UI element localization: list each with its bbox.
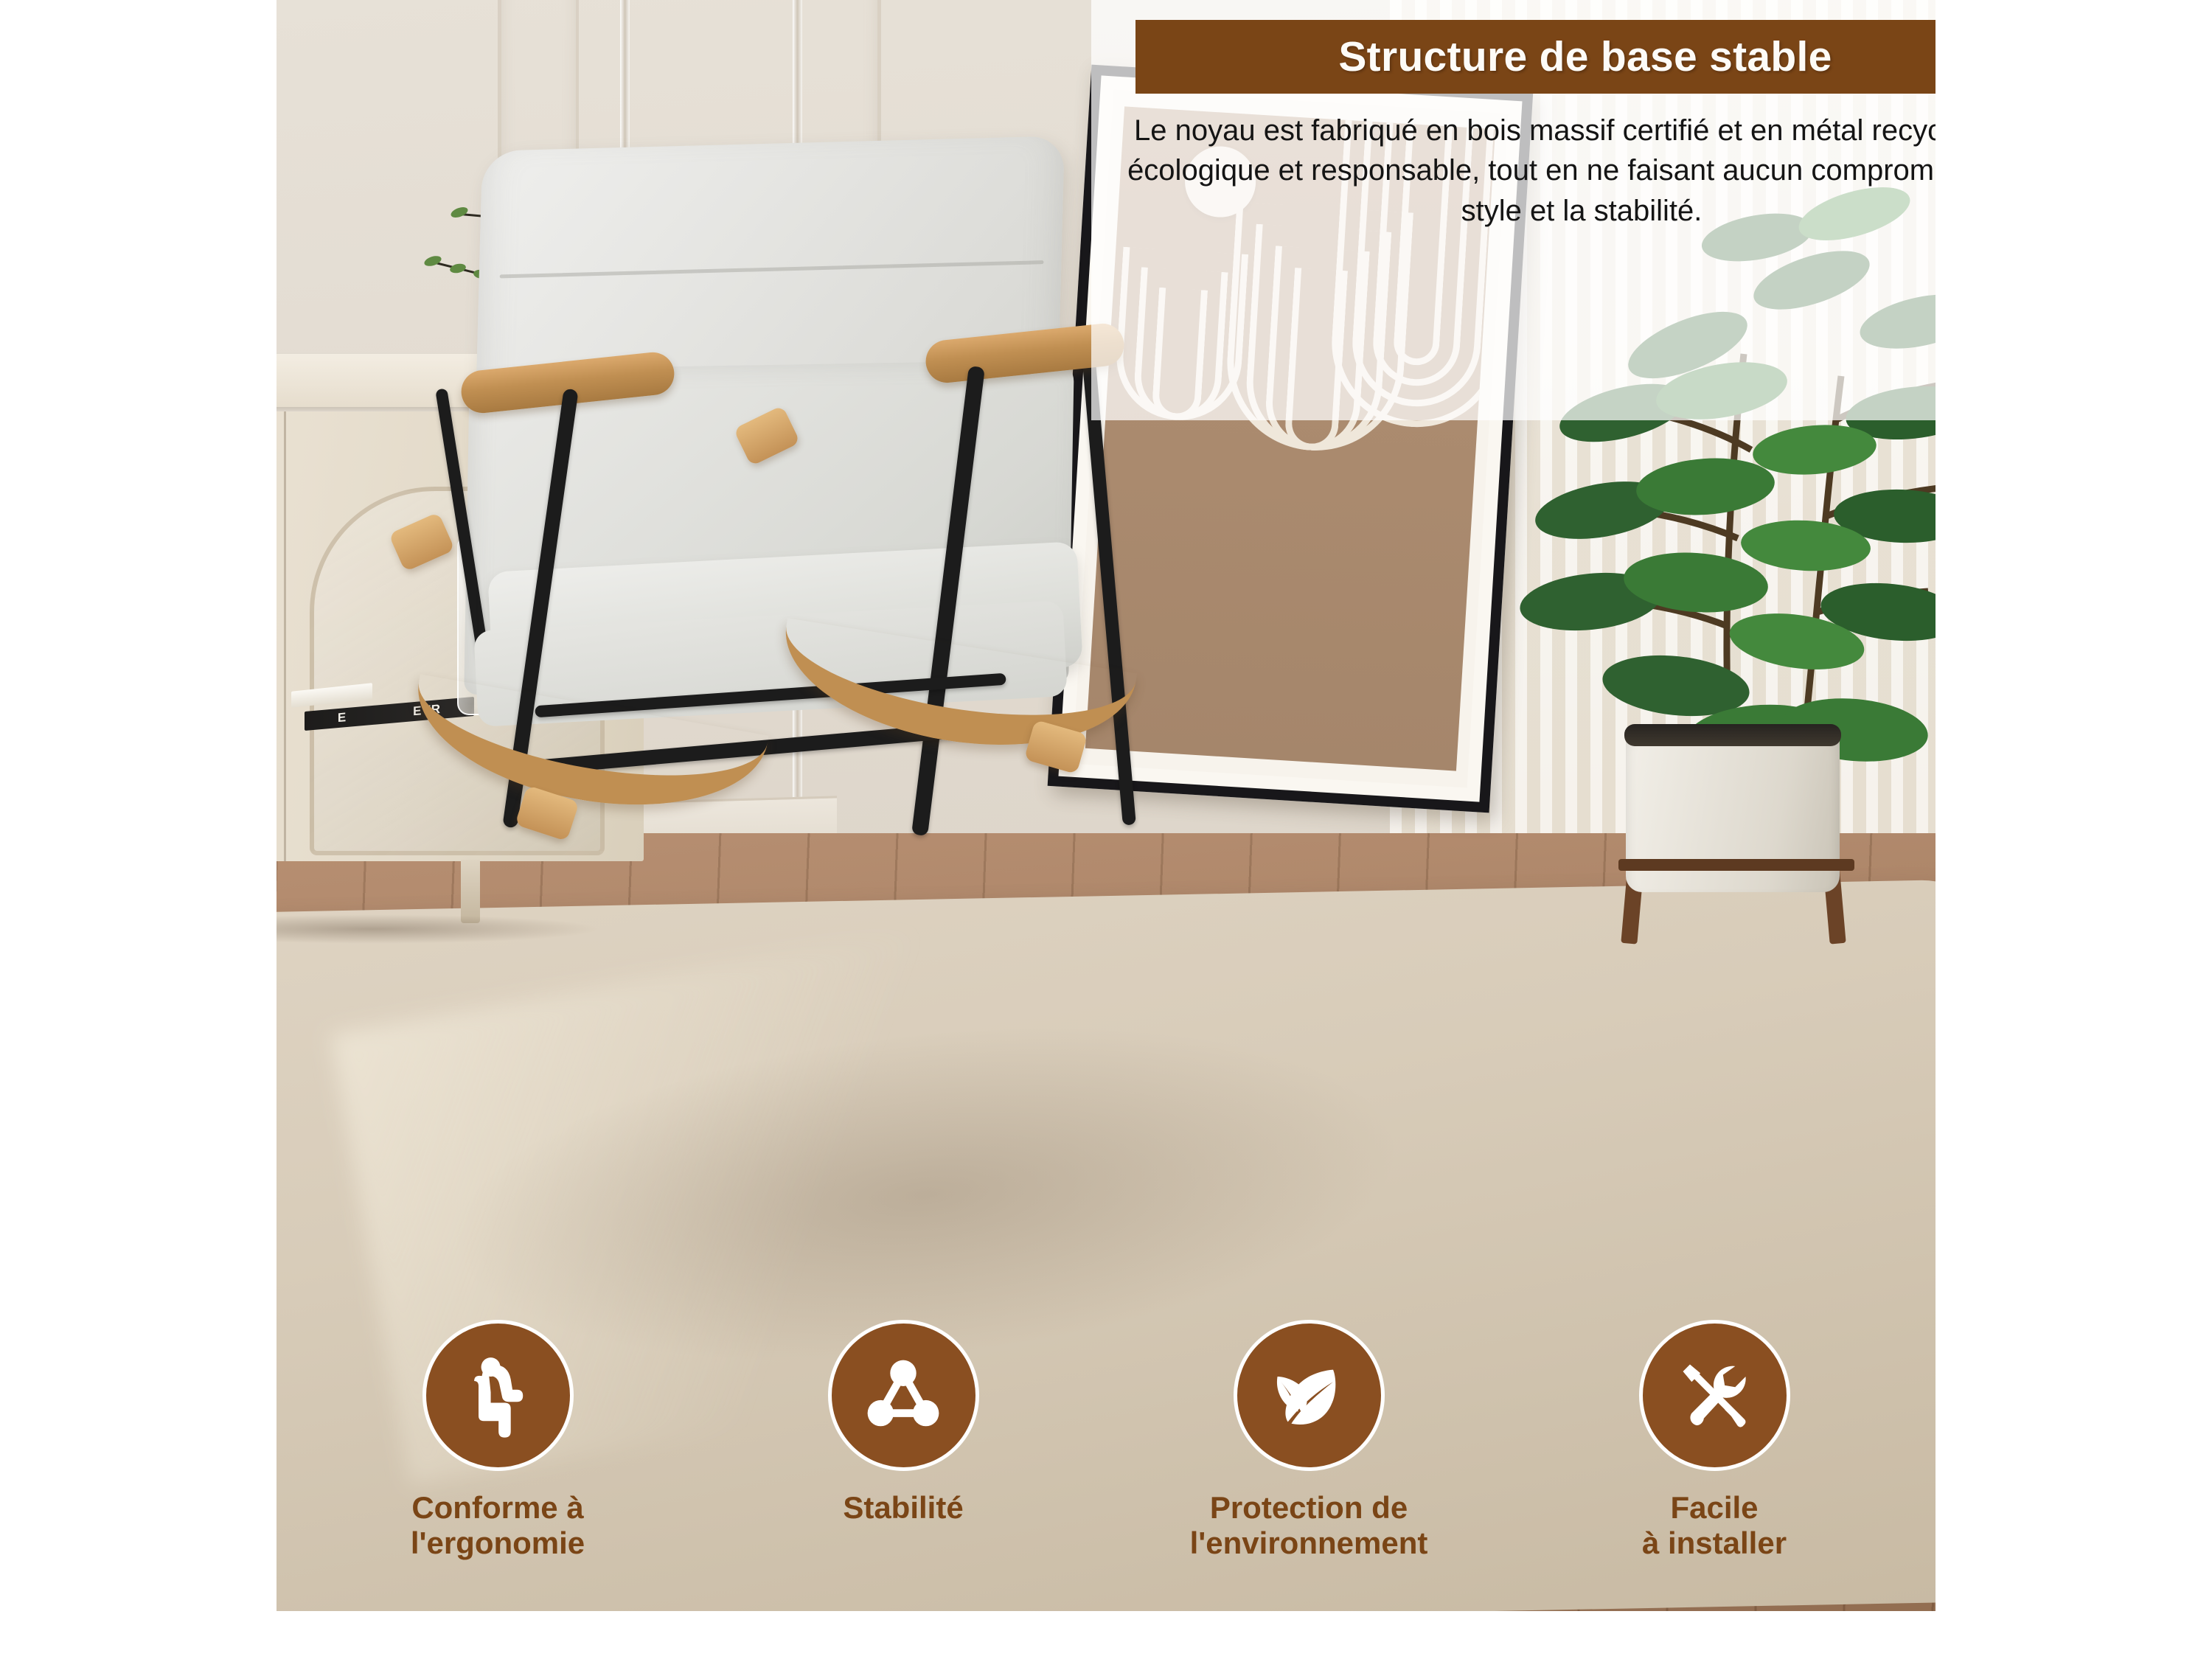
product-feature-card: E EVR	[0, 0, 2212, 1659]
feature-label: Stabilité	[843, 1490, 963, 1526]
title-banner: Structure de base stable	[1135, 20, 1935, 94]
feature-label-line2: l'environnement	[1190, 1526, 1428, 1561]
feature-label-line1: Conforme à	[411, 1490, 585, 1526]
badge-circle	[1639, 1320, 1790, 1471]
wrench-screwdriver-icon	[1671, 1352, 1758, 1439]
feature-label: Protection de l'environnement	[1190, 1490, 1428, 1561]
triangle-nodes-icon	[860, 1352, 947, 1439]
planter-soil-rim	[1624, 724, 1841, 746]
sideboard-door-seam	[284, 411, 286, 861]
badge-circle	[1234, 1320, 1385, 1471]
feature-label-line1: Protection de	[1190, 1490, 1428, 1526]
chair-metal-frame	[1082, 354, 1136, 825]
feature-label: Facile à installer	[1642, 1490, 1787, 1561]
plant-stand-bar	[1618, 859, 1854, 871]
badge-circle	[828, 1320, 979, 1471]
feature-label-line2: l'ergonomie	[411, 1526, 585, 1561]
page-title: Structure de base stable	[1338, 32, 1832, 81]
feature-label-line2: à installer	[1642, 1526, 1787, 1561]
feature-item-ergonomics: Conforme à l'ergonomie	[354, 1368, 641, 1561]
feature-label-line1: Stabilité	[843, 1490, 963, 1526]
badge-circle	[422, 1320, 574, 1471]
bottom-white-strip	[0, 1611, 2212, 1659]
person-sitting-icon	[454, 1352, 541, 1439]
rocker-tip	[389, 512, 455, 571]
feature-label-line1: Facile	[1642, 1490, 1787, 1526]
body-paragraph: Le noyau est fabriqué en bois massif cer…	[1124, 111, 1935, 231]
feature-item-easy-install: Facile à installer	[1571, 1368, 1858, 1561]
feature-item-environment: Protection de l'environnement	[1165, 1368, 1453, 1561]
feature-item-stability: Stabilité	[759, 1368, 1047, 1526]
feature-label: Conforme à l'ergonomie	[411, 1490, 585, 1561]
leaves-icon	[1265, 1352, 1352, 1439]
book-spine-text-left: E	[338, 710, 347, 726]
